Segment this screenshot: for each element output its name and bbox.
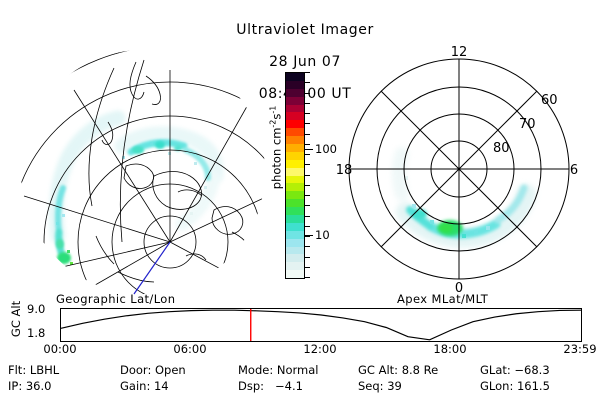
colorbar-band [286,136,304,144]
colorbar-band [286,160,304,168]
strip-x-tick-label: 12:00 [303,342,336,356]
colorbar-band [286,254,304,262]
aurora-diffuse [57,118,217,236]
colorbar-band [286,239,304,247]
geographic-map-panel[interactable] [18,46,268,294]
colorbar-minor-tick [305,175,310,176]
colorbar-minor-tick [305,226,310,227]
colorbar-minor-tick [305,113,310,114]
colorbar-band [286,152,304,160]
strip-x-tick-label: 18:00 [433,342,466,356]
colorbar-band [286,183,304,191]
colorbar-band [286,120,304,128]
colorbar-unit-exp1: -2 [269,120,278,128]
colorbar-minor-tick [305,246,310,247]
colorbar-band [286,231,304,239]
coastline-outlines [89,62,250,282]
mlat-label-60: 60 [541,93,558,108]
geographic-aurora-layer [56,118,216,265]
colorbar-axis-label: photon cm-2s-1 [269,87,284,207]
status-seq: Seq: 39 [358,378,480,394]
colorbar-minor-tick [305,205,310,206]
colorbar-minor-tick [305,195,310,196]
aurora-speckle [56,142,207,265]
colorbar-band [286,81,304,89]
colorbar-band [286,191,304,199]
colorbar-minor-tick [305,277,310,278]
colorbar-band [286,247,304,255]
status-ip: IP: 36.0 [8,378,120,394]
colorbar-band [286,262,304,270]
status-row: Flt: LBHL Door: Open Mode: Normal GC Alt… [8,362,600,378]
colorbar-band [286,207,304,215]
colorbar-band [286,89,304,97]
spacecraft-track [134,242,170,294]
colorbar-band [286,270,304,278]
mlt-label-6: 6 [570,163,578,178]
colorbar-minor-tick [305,72,310,73]
instrument-title: Ultraviolet Imager [236,22,374,38]
strip-ytick-bottom: 1.8 [27,326,45,340]
colorbar-unit-exp2: -1 [269,106,278,114]
strip-y-axis-label: GC Alt [9,289,23,349]
mlat-label-70: 70 [519,117,536,132]
colorbar-band [286,215,304,223]
colorbar-band [286,199,304,207]
status-door: Door: Open [120,362,238,378]
colorbar-band [286,112,304,120]
colorbar-band [286,105,304,113]
colorbar-gradient [285,72,305,279]
strip-x-tick-label: 00:00 [43,342,76,356]
altitude-curve [61,310,581,340]
colorbar-minor-tick [305,93,310,94]
colorbar-band [286,168,304,176]
colorbar-minor-tick [305,123,310,124]
colorbar-minor-tick [305,144,310,145]
colorbar-major-tick [305,235,313,236]
strip-x-tick-label: 06:00 [173,342,206,356]
colorbar-minor-tick [305,103,310,104]
colorbar-minor-tick [305,164,310,165]
colorbar-minor-tick [305,185,310,186]
colorbar-minor-tick [305,236,310,237]
colorbar-minor-tick [305,154,310,155]
colorbar-band [286,223,304,231]
status-panel: Flt: LBHL Door: Open Mode: Normal GC Alt… [8,362,600,394]
colorbar-minor-tick [305,267,310,268]
altitude-curve-svg [61,309,581,341]
strip-x-axis-labels: 00:0006:0012:0018:0023:59 [0,342,600,356]
status-gc-alt: GC Alt: 8.8 Re [358,362,480,378]
strip-ytick-top: 9.0 [27,302,45,316]
status-glat: GLat: −68.3 [480,362,590,378]
colorbar-band [286,97,304,105]
colorbar-tick-label: 10 [315,228,330,242]
mlat-label-80: 80 [493,141,510,156]
colorbar-band [286,73,304,81]
strip-plot-area[interactable] [60,308,582,342]
strip-x-tick-label: 23:59 [563,342,596,356]
status-mode: Mode: Normal [238,362,358,378]
colorbar-band [286,128,304,136]
colorbar: photon cm-2s-1 10010 [262,66,342,286]
altitude-timeline[interactable]: GC Alt 9.0 1.8 00:0006:0012:0018:0023:59 [0,300,600,354]
colorbar-tick-label: 100 [315,142,337,156]
magnetic-dial-svg: 12 6 0 18 60 70 80 [334,44,584,294]
colorbar-minor-tick [305,257,310,258]
colorbar-unit-mid: s [269,114,283,120]
status-dsp: Dsp: −4.1 [238,378,358,394]
mlt-spokes [349,59,569,279]
geographic-map-svg [18,46,268,294]
colorbar-major-tick [305,149,313,150]
colorbar-band [286,176,304,184]
mlt-label-12: 12 [451,45,468,60]
colorbar-minor-tick [305,134,310,135]
colorbar-unit-main: photon cm [269,128,283,190]
status-glon: GLon: 161.5 [480,378,590,394]
colorbar-minor-tick [305,82,310,83]
magnetic-dial-panel[interactable]: 12 6 0 18 60 70 80 [334,44,584,294]
colorbar-band [286,144,304,152]
status-flight: Flt: LBHL [8,362,120,378]
status-gain: Gain: 14 [120,378,238,394]
colorbar-minor-tick [305,216,310,217]
status-row: IP: 36.0 Gain: 14 Dsp: −4.1 Seq: 39 GLon… [8,378,600,394]
